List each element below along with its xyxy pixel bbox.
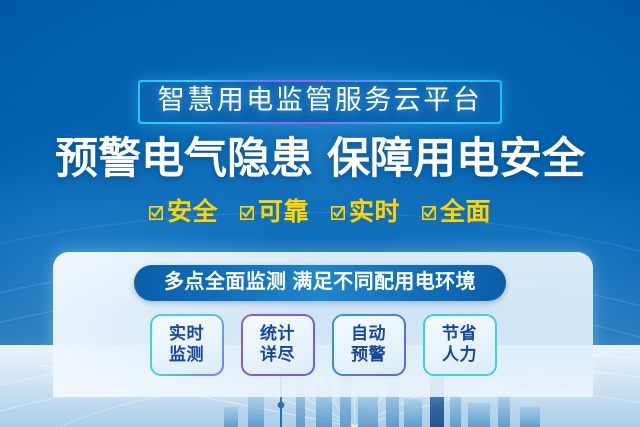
- feature-check-item: 安全: [149, 200, 218, 225]
- feature-box-line-1: 自动: [351, 324, 386, 345]
- feature-box-line-2: 人力: [442, 345, 477, 366]
- feature-box-realtime-monitoring[interactable]: 实时 监测: [150, 314, 224, 376]
- checkbox-checked-icon: [240, 206, 254, 220]
- feature-box-line-2: 详尽: [260, 345, 295, 366]
- feature-box-inner: 实时 监测: [152, 316, 222, 374]
- headline: 预警电气隐患保障用电安全: [0, 134, 640, 185]
- feature-box-inner: 节省 人力: [425, 316, 495, 374]
- panel-pill-text: 多点全面监测 满足不同配用电环境: [164, 271, 476, 293]
- platform-title-text: 智慧用电监管服务云平台: [158, 86, 483, 115]
- feature-check-label: 实时: [349, 200, 400, 225]
- feature-box-automatic-alarm[interactable]: 自动 预警: [332, 314, 406, 376]
- feature-box-inner: 统计 详尽: [243, 316, 313, 374]
- checkbox-checked-icon: [331, 206, 345, 220]
- feature-check-label: 全面: [440, 200, 491, 225]
- headline-part-1: 预警电气隐患: [55, 135, 313, 183]
- feature-box-line-2: 预警: [351, 345, 386, 366]
- feature-box-line-1: 实时: [169, 324, 204, 345]
- title-chip-inner: 智慧用电监管服务云平台: [140, 82, 501, 122]
- panel-pill: 多点全面监测 满足不同配用电环境: [134, 265, 506, 301]
- platform-title-chip: 智慧用电监管服务云平台: [0, 80, 640, 124]
- headline-part-2: 保障用电安全: [327, 135, 585, 183]
- checkbox-checked-icon: [149, 206, 163, 220]
- title-chip-border: 智慧用电监管服务云平台: [138, 80, 503, 124]
- feature-box-row: 实时 监测 统计 详尽 自动 预警 节省 人力: [53, 314, 593, 376]
- checkbox-checked-icon: [422, 206, 436, 220]
- feature-check-row: 安全 可靠 实时: [0, 200, 640, 225]
- promo-banner: 智慧用电监管服务云平台 预警电气隐患保障用电安全 安全: [0, 0, 640, 427]
- panel-pill-wrap: 多点全面监测 满足不同配用电环境: [0, 265, 640, 301]
- feature-check-item: 全面: [422, 200, 491, 225]
- feature-box-inner: 自动 预警: [334, 316, 404, 374]
- feature-box-save-manpower[interactable]: 节省 人力: [423, 314, 497, 376]
- feature-check-item: 可靠: [240, 200, 309, 225]
- feature-check-label: 可靠: [258, 200, 309, 225]
- feature-box-detailed-statistics[interactable]: 统计 详尽: [241, 314, 315, 376]
- feature-check-label: 安全: [167, 200, 218, 225]
- feature-check-item: 实时: [331, 200, 400, 225]
- feature-box-line-1: 节省: [442, 324, 477, 345]
- feature-box-line-2: 监测: [169, 345, 204, 366]
- feature-box-line-1: 统计: [260, 324, 295, 345]
